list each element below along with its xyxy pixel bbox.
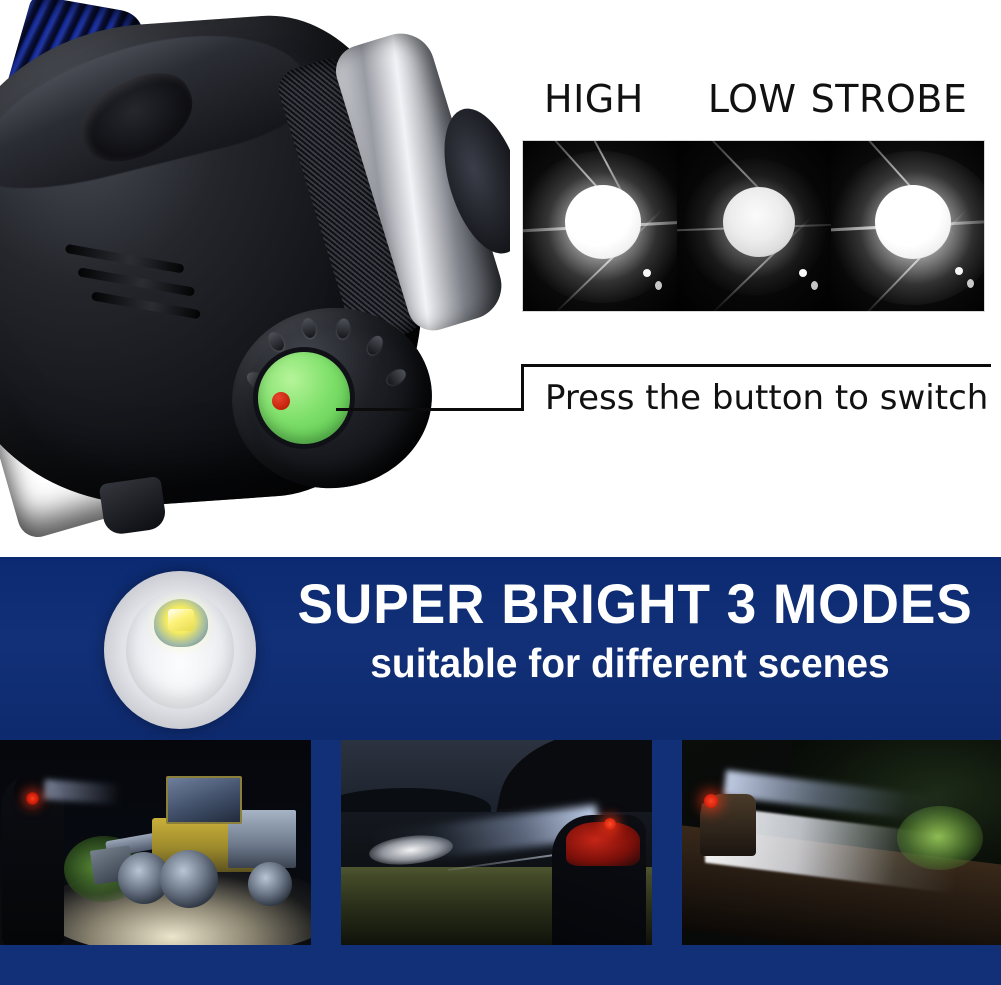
led-mode-demo-panel xyxy=(522,140,985,312)
led-speck xyxy=(967,279,974,288)
headlamp-product-photo xyxy=(0,0,510,557)
led-cell-low xyxy=(677,141,831,312)
led-speck xyxy=(811,281,818,290)
headlamp-clip-tab xyxy=(99,476,168,536)
led-reflector-inner xyxy=(126,591,234,709)
scene-photo-night-path xyxy=(682,740,1001,945)
usage-scene-strip xyxy=(0,740,1001,985)
callout-leader-line xyxy=(336,408,524,411)
mode-label-low: LOW xyxy=(708,77,797,121)
housing-bump xyxy=(336,318,351,339)
mode-label-high: HIGH xyxy=(544,77,644,121)
callout-elbow-vertical xyxy=(521,364,524,411)
headlamp-lens-core xyxy=(429,99,510,263)
led-emitter-core xyxy=(168,609,194,631)
scene1-loader-wheel xyxy=(248,862,292,906)
scene3-red-indicator xyxy=(704,794,718,808)
scene-photo-night-work xyxy=(0,740,311,945)
banner-text-block: SUPER BRIGHT 3 MODES suitable for differ… xyxy=(280,573,980,723)
led-bulb xyxy=(875,185,951,259)
callout-text: Press the button to switch xyxy=(545,374,995,422)
housing-bump xyxy=(301,317,318,339)
led-bulb xyxy=(723,187,795,257)
led-cell-high xyxy=(523,141,677,312)
button-indicator-dot xyxy=(272,392,290,410)
banner-title: SUPER BRIGHT 3 MODES xyxy=(298,573,963,635)
led-speck xyxy=(643,269,651,277)
led-emitter-chip xyxy=(154,599,208,647)
scene1-loader-cab xyxy=(166,776,242,824)
led-speck xyxy=(955,267,963,275)
scene1-red-indicator xyxy=(26,792,39,805)
led-reflector-icon xyxy=(104,571,256,729)
product-hero-section: HIGH LOW STROBE xyxy=(0,0,1001,557)
housing-bump xyxy=(365,333,386,357)
scene2-red-indicator xyxy=(604,818,616,830)
housing-bump xyxy=(265,330,287,354)
mode-label-strobe: STROBE xyxy=(811,77,968,121)
scene1-loader-wheel xyxy=(160,850,218,908)
housing-bump xyxy=(385,366,409,388)
mode-switch-button[interactable] xyxy=(258,352,350,444)
headlamp-body-groove xyxy=(91,291,201,319)
scene2-red-hood xyxy=(566,822,640,866)
scene-photo-night-fishing xyxy=(341,740,652,945)
led-speck xyxy=(799,269,807,277)
led-speck xyxy=(655,281,662,290)
led-bulb xyxy=(565,185,641,259)
callout-elbow-horizontal xyxy=(521,364,991,367)
mode-label-row: HIGH LOW STROBE xyxy=(522,72,986,126)
banner-subtitle: suitable for different scenes xyxy=(298,637,963,689)
led-cell-strobe xyxy=(831,141,985,312)
feature-banner: SUPER BRIGHT 3 MODES suitable for differ… xyxy=(0,557,1001,740)
